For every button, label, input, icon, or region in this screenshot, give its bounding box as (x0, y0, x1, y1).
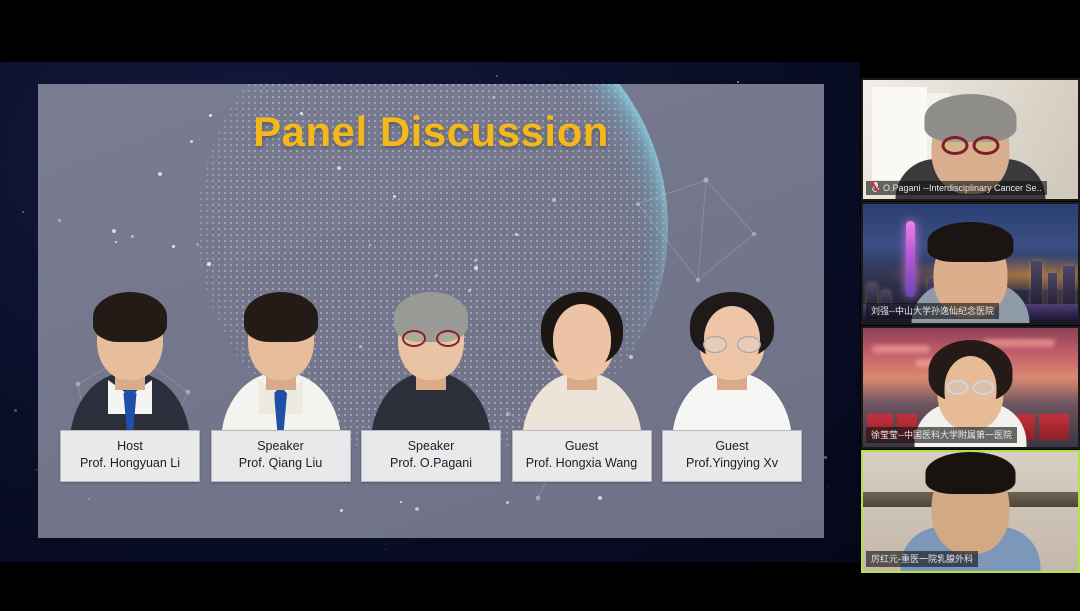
nameplate-role: Guest (665, 438, 799, 456)
nameplate-name: Prof. Hongyuan Li (63, 455, 197, 473)
nameplate: Host Prof. Hongyuan Li (60, 430, 200, 483)
participant-nametag: O.Pagani --Interdisciplinary Cancer Se.. (866, 181, 1047, 195)
participant-nametag: 刘强--中山大学孙逸仙纪念医院 (866, 303, 999, 319)
shared-screen-stage[interactable]: Panel Discussion (0, 62, 860, 562)
mic-muted-icon (871, 182, 880, 193)
participant-name: 徐莹莹--中国医科大学附属第一医院 (871, 428, 1012, 441)
nameplate-name: Prof. Qiang Liu (214, 455, 348, 473)
participant-tile[interactable]: O.Pagani --Interdisciplinary Cancer Se.. (861, 78, 1080, 201)
participant-nametag: 徐莹莹--中国医科大学附属第一医院 (866, 427, 1017, 443)
nameplate: Speaker Prof. O.Pagani (361, 430, 501, 483)
nameplate-role: Speaker (364, 438, 498, 456)
meeting-window: Panel Discussion (0, 0, 1080, 611)
participant-filmstrip[interactable]: O.Pagani --Interdisciplinary Cancer Se.. (861, 78, 1080, 573)
nameplate: Guest Prof. Hongxia Wang (512, 430, 652, 483)
nameplate-role: Speaker (214, 438, 348, 456)
nameplate-row: Host Prof. Hongyuan Li Speaker Prof. Qia… (60, 430, 802, 483)
participant-tile[interactable]: 刘强--中山大学孙逸仙纪念医院 (861, 202, 1080, 325)
nameplate-name: Prof. O.Pagani (364, 455, 498, 473)
participant-name: 厉红元-重医一院乳腺外科 (871, 552, 973, 565)
nameplate-name: Prof. Hongxia Wang (515, 455, 649, 473)
nameplate-role: Host (63, 438, 197, 456)
participant-tile-active-speaker[interactable]: 厉红元-重医一院乳腺外科 (861, 450, 1080, 573)
participant-name: O.Pagani --Interdisciplinary Cancer Se.. (883, 183, 1042, 193)
participant-name: 刘强--中山大学孙逸仙纪念医院 (871, 304, 994, 317)
presentation-slide: Panel Discussion (38, 84, 824, 538)
participant-tile[interactable]: 徐莹莹--中国医科大学附属第一医院 (861, 326, 1080, 449)
nameplate: Guest Prof.Yingying Xv (662, 430, 802, 483)
nameplate-name: Prof.Yingying Xv (665, 455, 799, 473)
participant-nametag: 厉红元-重医一院乳腺外科 (866, 551, 978, 567)
nameplate-role: Guest (515, 438, 649, 456)
slide-title: Panel Discussion (38, 108, 824, 156)
nameplate: Speaker Prof. Qiang Liu (211, 430, 351, 483)
